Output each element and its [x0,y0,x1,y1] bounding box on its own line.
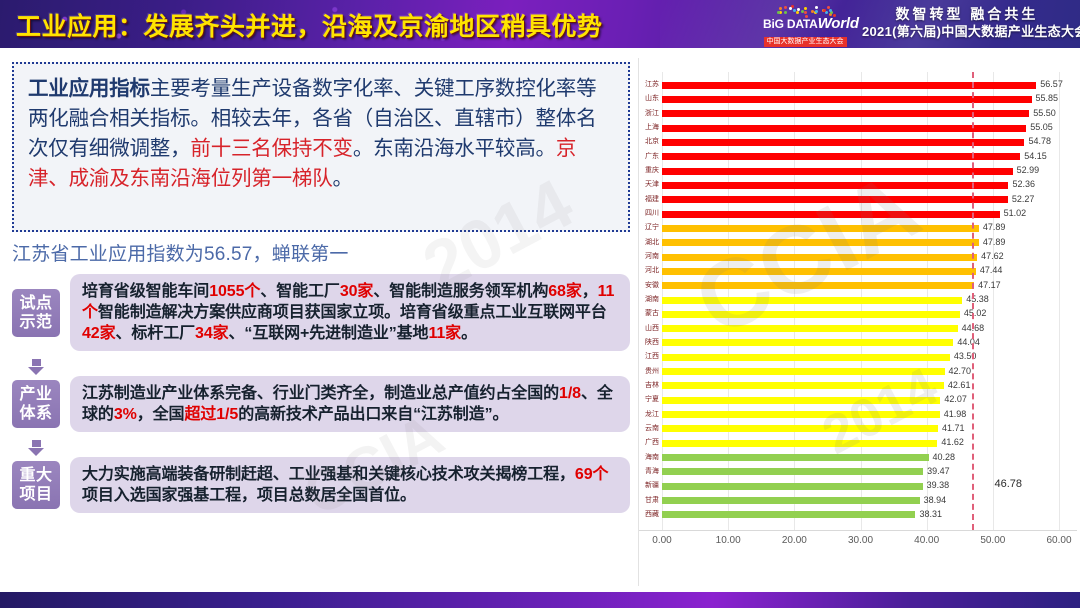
row-text: 大力实施高端装备研制赶超、工业强基和关键核心技术攻关揭榜工程， [82,466,575,483]
chart-x-tick-label: 30.00 [848,535,873,546]
chart-x-tick-label: 0.00 [652,535,671,546]
chart-category-label: 蒙古 [645,310,659,318]
chart-category-label: 四川 [645,210,659,218]
chart-category-label: 福建 [645,196,659,204]
chart-bar [662,440,937,447]
chart-category-label: 贵州 [645,368,659,376]
chart-bar-value: 55.85 [1036,94,1059,103]
logo-wordmark: BiG DATAWorld [763,18,847,30]
chart-x-tick-label: 50.00 [980,535,1005,546]
chart-category-label: 吉林 [645,382,659,390]
chart-bar-value: 47.89 [983,223,1006,232]
chart-category-label: 陕西 [645,339,659,347]
chart-bar [662,239,979,246]
chart-category-label: 湖南 [645,296,659,304]
row-description: 大力实施高端装备研制赶超、工业强基和关键核心技术攻关揭榜工程，69个项目入选国家… [70,457,630,513]
row-text: 、“互联网+先进制造业”基地 [229,325,429,342]
chart-category-label: 辽宁 [645,224,659,232]
row-badge: 产业体系 [12,380,60,428]
chart-category-label: 山西 [645,325,659,333]
chart-category-label: 新疆 [645,482,659,490]
chart-bar-value: 42.70 [949,367,972,376]
chart-bar-value: 54.15 [1024,152,1047,161]
chart-category-label: 河南 [645,253,659,261]
logo-subtitle: 中国大数据产业生态大会 [764,37,847,47]
chart-category-label: 甘肃 [645,497,659,505]
chart-bar-value: 45.38 [966,295,989,304]
chart-category-label: 北京 [645,138,659,146]
chart-bar-value: 51.02 [1004,209,1027,218]
chart-bar [662,483,923,490]
industrial-index-bar-chart: 江苏56.57山东55.85浙江55.50上海55.05北京54.78广东54.… [638,58,1076,586]
chart-bar [662,368,945,375]
row-text: 、智能制造服务领军机构 [373,283,548,300]
chart-category-label: 宁夏 [645,396,659,404]
chart-bar [662,397,940,404]
row-text: 的高新技术产品出口来自“江苏制造”。 [238,406,508,423]
row-text: 培育省级智能车间 [82,283,209,300]
row-badge-line1: 试点 [12,294,60,313]
chart-bar [662,268,976,275]
row-description: 江苏制造业产业体系完备、行业门类齐全，制造业总产值约占全国的1/8、全球的3%，… [70,376,630,432]
chart-bar [662,225,979,232]
chart-bar [662,297,962,304]
chart-category-label: 海南 [645,454,659,462]
row-text: 智能制造解决方案供应商项目获国家立项。培育省级重点工业互联网平台 [98,304,607,321]
left-content-column: 工业应用指标主要考量生产设备数字化率、关键工序数控化率等两化融合相关指标。相较去… [12,62,630,580]
chart-bar [662,211,1000,218]
row-highlight-value: 34家 [195,325,229,342]
row-text: ， [582,283,598,300]
note-highlight-1: 前十三名保持不变 [190,137,352,160]
chart-bar-value: 39.38 [927,481,950,490]
chart-bar-value: 52.27 [1012,195,1035,204]
chart-category-label: 云南 [645,425,659,433]
chart-bar [662,311,960,318]
indicator-note-box: 工业应用指标主要考量生产设备数字化率、关键工序数控化率等两化融合相关指标。相较去… [12,62,630,232]
chart-bar-value: 42.07 [944,395,967,404]
chart-bar-value: 52.99 [1017,166,1040,175]
chart-bar-value: 44.04 [957,338,980,347]
row-text: 。 [461,325,477,342]
chart-bar [662,82,1036,89]
logo-dots-icon [771,4,839,17]
row-highlight-value: 1/8 [559,385,581,402]
slide-footer-band [0,592,1080,608]
conference-banner: 数智转型 融合共生 2021(第六届)中国大数据产业生态大会 [862,5,1072,41]
chart-category-label: 浙江 [645,110,659,118]
chart-x-tick-label: 40.00 [914,535,939,546]
jiangsu-index-subline: 江苏省工业应用指数为56.57，蝉联第一 [12,242,630,268]
chart-x-tick-label: 60.00 [1046,535,1071,546]
highlight-rows: 试点示范培育省级智能车间1055个、智能工厂30家、智能制造服务领军机构68家，… [12,274,630,513]
chart-category-label: 重庆 [645,167,659,175]
chart-bar-value: 55.50 [1033,109,1056,118]
chart-bar-value: 39.47 [927,467,950,476]
highlight-row: 重大项目大力实施高端装备研制赶超、工业强基和关键核心技术攻关揭榜工程，69个项目… [12,457,630,513]
chart-category-label: 广东 [645,153,659,161]
conference-name: 2021(第六届)中国大数据产业生态大会 [862,23,1072,41]
row-badge-line2: 示范 [12,313,60,332]
down-arrow-icon [12,352,60,375]
chart-bar-value: 42.61 [948,381,971,390]
chart-category-label: 山东 [645,95,659,103]
chart-bar-value: 40.28 [933,453,956,462]
chart-bar [662,254,977,261]
logo-world-text: World [818,15,859,32]
row-highlight-value: 1055个 [209,283,260,300]
chart-category-label: 龙江 [645,411,659,419]
chart-bar [662,96,1032,103]
chart-category-label: 河北 [645,267,659,275]
chart-bar-value: 56.57 [1040,80,1063,89]
note-body-2: 。东南沿海水平较高。 [353,137,556,160]
chart-category-label: 江西 [645,353,659,361]
chart-category-label: 西藏 [645,511,659,519]
chart-bar [662,468,923,475]
row-highlight-value: 3% [114,406,137,423]
row-highlight-value: 30家 [340,283,374,300]
chart-bar [662,454,929,461]
bigdata-world-logo: BiG DATAWorld 中国大数据产业生态大会 [763,4,847,46]
indicator-note-text: 工业应用指标主要考量生产设备数字化率、关键工序数控化率等两化融合相关指标。相较去… [28,74,616,194]
row-description: 培育省级智能车间1055个、智能工厂30家、智能制造服务领军机构68家，11个智… [70,274,630,351]
row-text: ，全国 [137,406,185,423]
chart-category-label: 天津 [645,181,659,189]
chart-bar [662,139,1024,146]
note-body-3: 。 [333,167,353,190]
chart-bar-value: 52.36 [1012,180,1035,189]
chart-bar [662,411,940,418]
row-badge: 试点示范 [12,289,60,337]
chart-bar [662,425,938,432]
chart-bar-value: 55.05 [1030,123,1053,132]
row-badge: 重大项目 [12,461,60,509]
chart-bar-value: 38.31 [919,510,942,519]
chart-x-axis [639,530,1077,531]
chart-bar-value: 47.44 [980,266,1003,275]
row-text: 、智能工厂 [260,283,340,300]
chart-category-label: 青海 [645,468,659,476]
chart-x-tick-label: 10.00 [716,535,741,546]
chart-bar [662,182,1008,189]
chart-bar [662,511,915,518]
chart-bar [662,382,944,389]
slide-root: 工业应用：发展齐头并进，沿海及京渝地区稍具优势 BiG DATAWorld 中国… [0,0,1080,608]
row-highlight-value: 超过1/5 [184,406,238,423]
chart-bar [662,497,920,504]
page-title: 工业应用：发展齐头并进，沿海及京渝地区稍具优势 [16,7,603,43]
row-text: 江苏制造业产业体系完备、行业门类齐全，制造业总产值约占全国的 [82,385,559,402]
chart-bar-value: 41.71 [942,424,965,433]
chart-reference-line-label: 46.78 [995,478,1023,490]
chart-bar-value: 47.17 [978,281,1001,290]
chart-bar [662,339,953,346]
highlight-row: 试点示范培育省级智能车间1055个、智能工厂30家、智能制造服务领军机构68家，… [12,274,630,351]
chart-x-tick-label: 20.00 [782,535,807,546]
chart-gridline [1059,72,1060,530]
chart-category-label: 安徽 [645,282,659,290]
chart-bar [662,196,1008,203]
row-highlight-value: 11家 [428,325,461,342]
chart-bar [662,282,974,289]
chart-bar [662,110,1029,117]
row-highlight-value: 42家 [82,325,116,342]
slide-header: 工业应用：发展齐头并进，沿海及京渝地区稍具优势 BiG DATAWorld 中国… [0,0,1080,48]
conference-slogan: 数智转型 融合共生 [862,5,1072,23]
row-badge-line1: 重大 [12,466,60,485]
down-arrow-icon [12,433,60,456]
chart-bar-value: 54.78 [1028,137,1051,146]
chart-bar-value: 38.94 [924,496,947,505]
row-badge-line2: 体系 [12,404,60,423]
chart-bar-value: 41.98 [944,410,967,419]
chart-bar-value: 47.89 [983,238,1006,247]
logo-main-text: BiG DATA [763,17,818,31]
chart-bar [662,153,1020,160]
note-lead: 工业应用指标 [28,77,150,100]
chart-bar-value: 45.02 [964,309,987,318]
row-text: 、标杆工厂 [116,325,196,342]
chart-category-label: 上海 [645,124,659,132]
row-text: 项目入选国家强基工程，项目总数居全国首位。 [82,487,416,504]
chart-category-label: 广西 [645,439,659,447]
chart-plot-area: 江苏56.57山东55.85浙江55.50上海55.05北京54.78广东54.… [639,72,1077,556]
chart-bar-value: 47.62 [981,252,1004,261]
chart-bar [662,354,950,361]
chart-bar-value: 41.62 [941,438,964,447]
chart-category-label: 江苏 [645,81,659,89]
chart-bar [662,168,1013,175]
chart-bar [662,325,958,332]
row-badge-line1: 产业 [12,385,60,404]
row-badge-line2: 项目 [12,485,60,504]
row-highlight-value: 69个 [575,466,609,483]
row-highlight-value: 68家 [548,283,582,300]
highlight-row: 产业体系江苏制造业产业体系完备、行业门类齐全，制造业总产值约占全国的1/8、全球… [12,376,630,432]
chart-category-label: 湖北 [645,239,659,247]
chart-reference-line [972,72,974,530]
